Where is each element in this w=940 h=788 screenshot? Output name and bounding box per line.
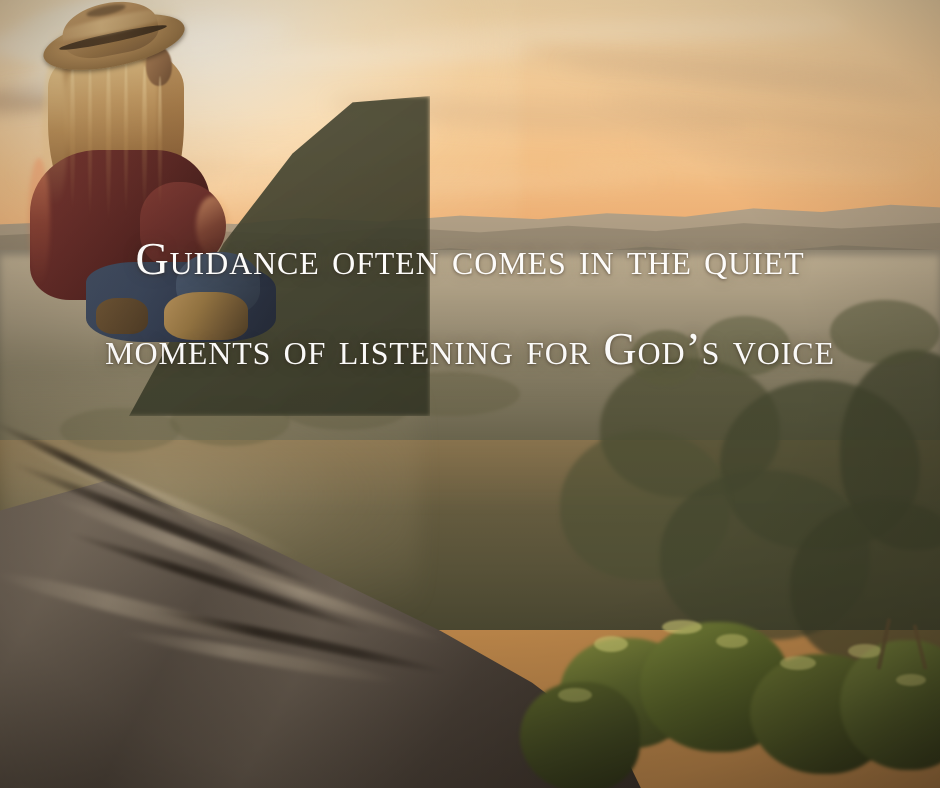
quote-image-canvas: Guidance often comes in the quiet moment… bbox=[0, 0, 940, 788]
hair-strand bbox=[70, 60, 75, 210]
hair-rim-light bbox=[42, 56, 68, 206]
boot-front bbox=[164, 292, 248, 340]
hair-strand bbox=[124, 58, 128, 216]
boot-back bbox=[96, 298, 148, 334]
hair-strand bbox=[158, 76, 162, 208]
sprig-highlight bbox=[896, 674, 926, 686]
tree-canopy bbox=[700, 316, 790, 376]
sprig-highlight bbox=[594, 636, 628, 652]
sprig-highlight bbox=[780, 656, 816, 670]
sprig-highlight bbox=[558, 688, 592, 702]
cliff-vegetation bbox=[530, 578, 940, 788]
hair-strand bbox=[88, 56, 92, 218]
sprig-highlight bbox=[716, 634, 748, 648]
tree-canopy bbox=[630, 330, 700, 386]
arm-rim-light bbox=[196, 196, 230, 256]
hair-strand bbox=[106, 54, 111, 222]
sprig-highlight bbox=[662, 620, 702, 634]
hair-strand bbox=[142, 66, 147, 212]
sprig-highlight bbox=[848, 644, 882, 658]
tree-canopy bbox=[830, 300, 940, 364]
